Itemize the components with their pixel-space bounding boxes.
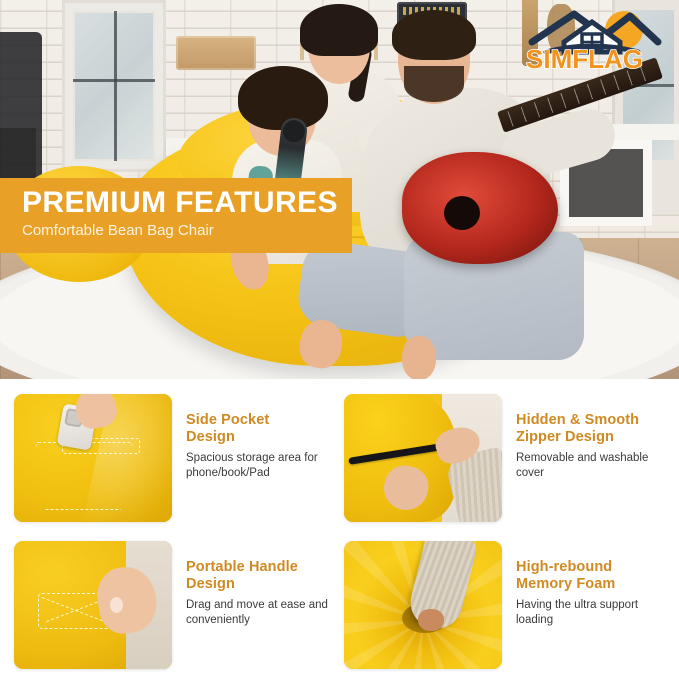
- man-hair: [392, 10, 476, 60]
- feature-title-line2: Design: [186, 576, 235, 592]
- feature-title: High-rebound Memory Foam: [516, 559, 666, 593]
- fingernail: [110, 597, 123, 613]
- cabinet-mullion-vertical: [114, 11, 117, 161]
- chair-left: [0, 32, 42, 182]
- feature-title-line1: High-rebound: [516, 559, 612, 575]
- premium-features-banner: PREMIUM FEATURES Comfortable Bean Bag Ch…: [0, 178, 352, 253]
- feature-description: Drag and move at ease and conveniently: [186, 598, 336, 628]
- feature-description: Removable and washable cover: [516, 451, 666, 481]
- cabinet-mullion-horizontal: [73, 79, 155, 82]
- feature-text: High-rebound Memory Foam Having the ultr…: [516, 559, 666, 628]
- brand-logo: SIMFLAG: [512, 8, 674, 70]
- feature-title: Side Pocket Design: [186, 412, 336, 446]
- feature-description: Spacious storage area for phone/book/Pad: [186, 451, 336, 481]
- hero-section: PREMIUM FEATURES Comfortable Bean Bag Ch…: [0, 0, 679, 379]
- feature-title: Portable Handle Design: [186, 559, 336, 593]
- hidden-zipper-photo: [344, 394, 502, 522]
- feature-card-side-pocket: Side Pocket Design Spacious storage area…: [8, 390, 338, 530]
- acoustic-guitar: [402, 152, 558, 264]
- boy-hair: [238, 66, 328, 130]
- feature-title-line1: Side Pocket: [186, 412, 269, 428]
- wicker-basket-decor: [176, 36, 256, 70]
- banner-subtitle: Comfortable Bean Bag Chair: [22, 223, 352, 240]
- glass-cabinet-left: [62, 0, 166, 172]
- banner-title: PREMIUM FEATURES: [22, 187, 352, 219]
- feature-card-hidden-zipper: Hidden & Smooth Zipper Design Removable …: [338, 390, 668, 530]
- feature-title-line2: Memory Foam: [516, 576, 615, 592]
- man-beard: [404, 66, 464, 102]
- fist: [418, 609, 444, 631]
- features-grid: Side Pocket Design Spacious storage area…: [0, 385, 679, 669]
- feature-title: Hidden & Smooth Zipper Design: [516, 412, 666, 446]
- feature-title-line1: Hidden & Smooth: [516, 412, 639, 428]
- memory-foam-photo: [344, 541, 502, 669]
- feature-card-memory-foam: High-rebound Memory Foam Having the ultr…: [338, 537, 668, 677]
- feature-text: Side Pocket Design Spacious storage area…: [186, 412, 336, 481]
- feature-description: Having the ultra support loading: [516, 598, 666, 628]
- logo-wordmark: SIMFLAG: [526, 44, 643, 70]
- feature-card-portable-handle: Portable Handle Design Drag and move at …: [8, 537, 338, 677]
- feature-title-line1: Portable Handle: [186, 559, 298, 575]
- girl-hair: [300, 4, 378, 56]
- feature-title-line2: Design: [186, 429, 235, 445]
- portable-handle-photo: [14, 541, 172, 669]
- side-pocket-photo: [14, 394, 172, 522]
- bare-foot-right: [402, 336, 436, 379]
- house-roof-sun-icon: SIMFLAG: [512, 8, 674, 70]
- feature-title-line2: Zipper Design: [516, 429, 614, 445]
- feature-text: Portable Handle Design Drag and move at …: [186, 559, 336, 628]
- feature-text: Hidden & Smooth Zipper Design Removable …: [516, 412, 666, 481]
